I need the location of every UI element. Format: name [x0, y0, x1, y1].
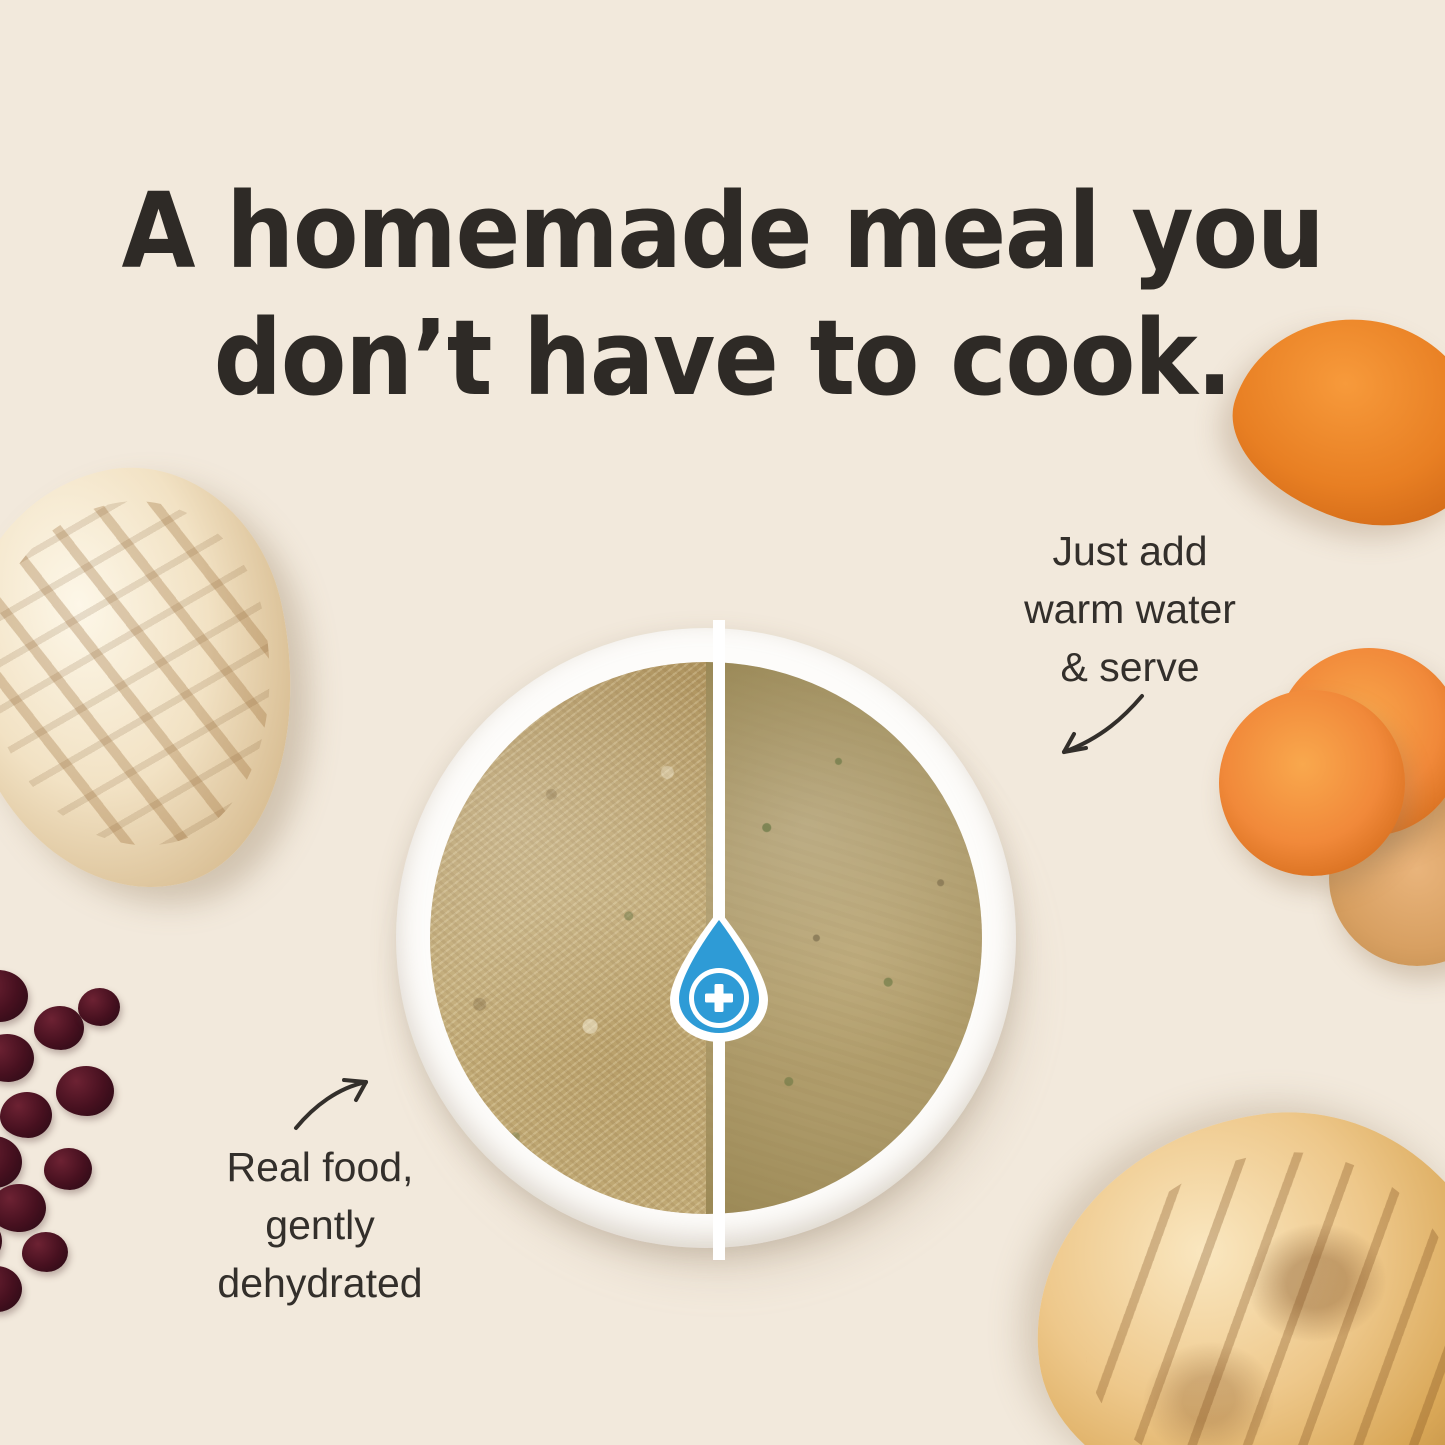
chicken-char-marks — [1062, 1129, 1445, 1445]
callout-just-add-warm-water: Just add warm water & serve — [985, 522, 1275, 697]
page-title: A homemade meal you don’t have to cook. — [58, 168, 1387, 422]
arrow-right-callout-icon — [1030, 690, 1150, 770]
arrow-left-callout-icon — [292, 1062, 378, 1134]
sweet-potato-slice-1-image — [1219, 690, 1405, 876]
product-lifestyle-image: A homemade meal you don’t have to cook. … — [0, 0, 1445, 1445]
cod-sear-marks — [0, 477, 306, 873]
callout-real-food-gently-dehydrated: Real food, gently dehydrated — [175, 1138, 465, 1313]
water-drop-plus-icon — [662, 908, 776, 1042]
roasted-chicken-image — [1009, 1084, 1445, 1445]
seared-cod-fillet-image — [0, 440, 334, 919]
